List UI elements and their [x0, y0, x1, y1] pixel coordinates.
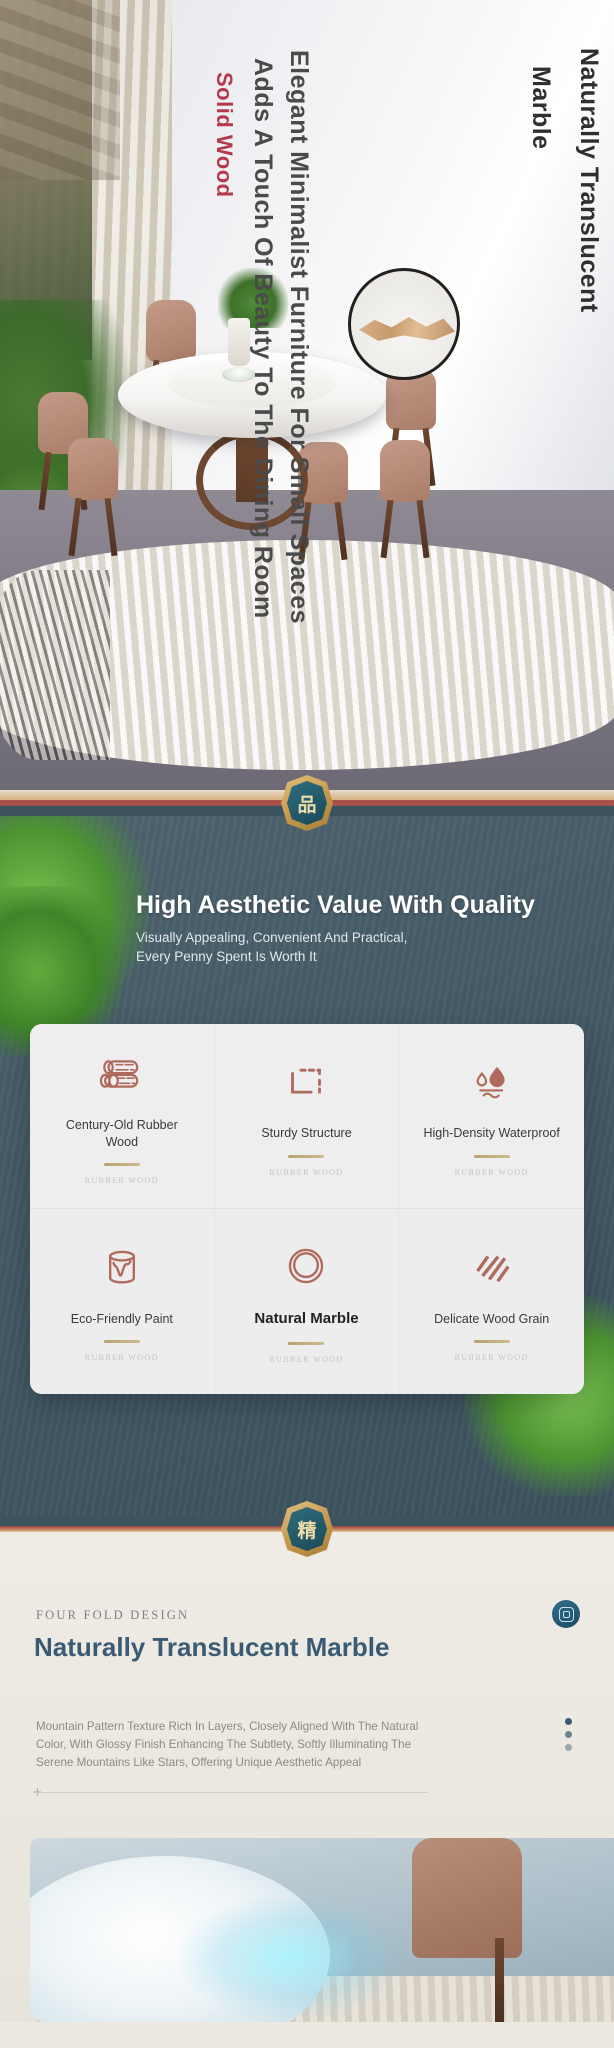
feature-card-eco-paint[interactable]: Eco-Friendly Paint RUBBER WOOD [30, 1209, 215, 1394]
wood-decor-detail-circle [348, 268, 460, 380]
waterdrop-icon [465, 1055, 519, 1109]
hero-section: Elegant Minimalist Furniture For Small S… [0, 0, 614, 790]
features-title: High Aesthetic Value With Quality [136, 890, 576, 921]
feature-card-label: Century-Old Rubber Wood [42, 1117, 202, 1150]
card-divider [104, 1163, 140, 1166]
section-divider-top: 品 [0, 790, 614, 816]
square-frame-glyph [559, 1607, 574, 1622]
marble-closeup-photo [30, 1838, 614, 2022]
square-frame-icon[interactable] [552, 1600, 580, 1628]
section-title: Naturally Translucent Marble [34, 1632, 434, 1663]
dining-chair [372, 440, 438, 558]
paint-bucket-icon [95, 1241, 149, 1295]
seal-badge-pin: 精 [281, 1501, 333, 1557]
feature-card-wood-grain[interactable]: Delicate Wood Grain RUBBER WOOD [399, 1209, 584, 1394]
circle-icon [279, 1239, 333, 1293]
marble-detail-section: FOUR FOLD DESIGN Naturally Translucent M… [0, 1542, 614, 2022]
table-vase [228, 318, 250, 366]
feature-card-sublabel: RUBBER WOOD [455, 1168, 529, 1177]
card-divider [474, 1340, 510, 1343]
pagination-dots[interactable] [565, 1718, 572, 1751]
feature-card-sublabel: RUBBER WOOD [269, 1355, 343, 1364]
hero-tag-solid-wood: Solid Wood [213, 72, 235, 198]
features-header: High Aesthetic Value With Quality Visual… [136, 890, 576, 966]
feature-card-sublabel: RUBBER WOOD [85, 1353, 159, 1362]
seal-badge-pin: 品 [281, 775, 333, 831]
feature-card-natural-marble[interactable]: Natural Marble RUBBER WOOD [215, 1209, 400, 1394]
feature-card-label: Delicate Wood Grain [426, 1311, 557, 1328]
section-eyebrow: FOUR FOLD DESIGN [36, 1608, 189, 1623]
section-divider-bottom: 精 [0, 1516, 614, 1542]
feature-card-label: Eco-Friendly Paint [63, 1311, 181, 1328]
features-section: High Aesthetic Value With Quality Visual… [0, 816, 614, 1516]
hero-headline-secondary: Adds A Touch Of Beauty To The Dining Roo… [250, 58, 275, 619]
seal-badge-character: 精 [287, 1507, 327, 1551]
section-body-text: Mountain Pattern Texture Rich In Layers,… [36, 1718, 436, 1772]
features-subtitle: Visually Appealing, Convenient And Pract… [136, 928, 576, 966]
feature-card-grid: Century-Old Rubber Wood RUBBER WOOD Stur… [30, 1024, 584, 1394]
translucent-glow [180, 1898, 400, 2018]
card-divider [474, 1155, 510, 1158]
feature-card-label: Sturdy Structure [253, 1125, 359, 1142]
photo-chair-leg [495, 1938, 504, 2022]
card-divider [288, 1155, 324, 1158]
pagination-dot[interactable] [565, 1744, 572, 1751]
feature-card-rubber-wood[interactable]: Century-Old Rubber Wood RUBBER WOOD [30, 1024, 215, 1209]
wood-decor-object [359, 311, 455, 345]
seal-badge-character: 品 [287, 781, 327, 825]
pagination-dot[interactable] [565, 1718, 572, 1725]
photo-chair [412, 1838, 522, 1958]
feature-card-sublabel: RUBBER WOOD [455, 1353, 529, 1362]
pagination-dot[interactable] [565, 1731, 572, 1738]
hero-rug-pattern [0, 570, 110, 760]
feature-card-sublabel: RUBBER WOOD [269, 1168, 343, 1177]
feature-card-sublabel: RUBBER WOOD [85, 1176, 159, 1185]
wood-grain-icon [465, 1241, 519, 1295]
logs-icon [95, 1047, 149, 1101]
hero-headline-primary: Elegant Minimalist Furniture For Small S… [286, 50, 311, 624]
hero-tag-marble: Marble [528, 66, 553, 150]
feature-card-waterproof[interactable]: High-Density Waterproof RUBBER WOOD [399, 1024, 584, 1209]
card-divider [288, 1342, 324, 1345]
card-divider [104, 1340, 140, 1343]
frame-icon [279, 1055, 333, 1109]
section-rule [36, 1792, 428, 1793]
feature-card-sturdy-structure[interactable]: Sturdy Structure RUBBER WOOD [215, 1024, 400, 1209]
dining-chair [60, 438, 126, 556]
hero-stone-wall [0, 0, 120, 180]
feature-card-label: High-Density Waterproof [415, 1125, 567, 1142]
hero-tag-naturally-translucent: Naturally Translucent [576, 48, 601, 313]
feature-card-label: Natural Marble [246, 1309, 366, 1329]
